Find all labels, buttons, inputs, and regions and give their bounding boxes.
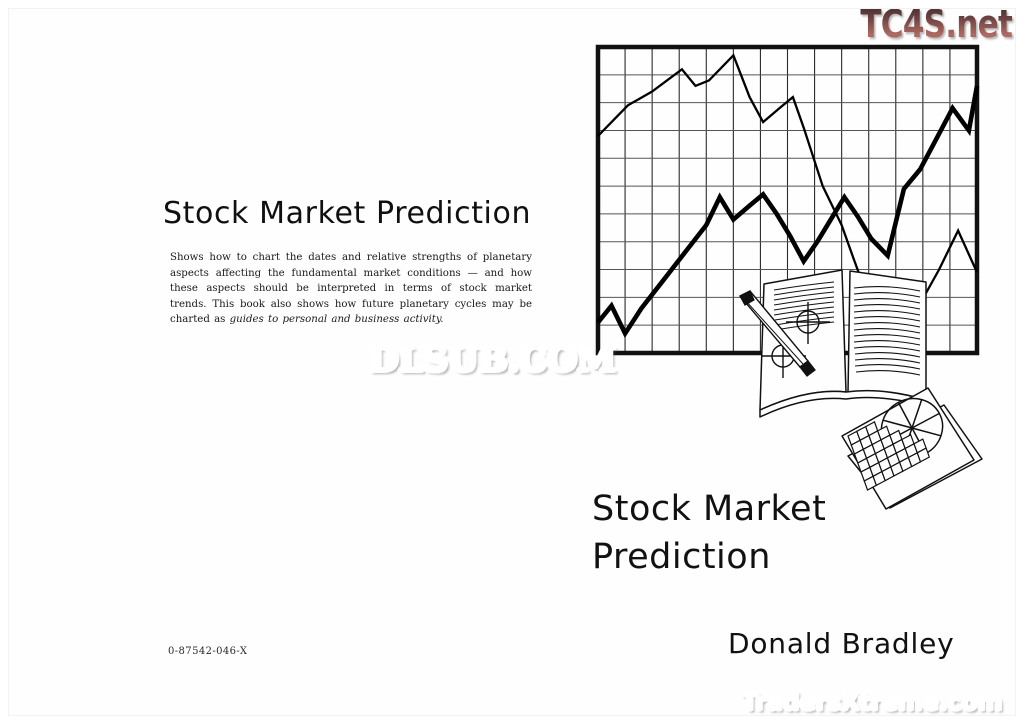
- watermark-tc4s: TC4S.net: [860, 2, 1012, 46]
- back-cover-blurb: Shows how to chart the dates and relativ…: [170, 250, 532, 328]
- front-cover-title-line-2: Prediction: [592, 533, 922, 581]
- author-name: Donald Bradley: [728, 627, 954, 660]
- book-cover: Stock Market Prediction Shows how to cha…: [0, 0, 1024, 724]
- blurb-italic-tail: guides to personal and business activity…: [230, 314, 444, 325]
- watermark-tradersxtreme: TradersXtreme.com: [742, 688, 1002, 716]
- watermark-dlsub-text: DLSUB.COM: [368, 340, 616, 380]
- watermark-tradersxtreme-text: TradersXtreme.com: [742, 688, 1002, 716]
- book-and-charts-illustration: [730, 260, 990, 510]
- watermark-dlsub: DLSUB.COM: [368, 340, 616, 380]
- back-cover-title: Stock Market Prediction: [163, 196, 531, 231]
- isbn-number: 0-87542-046-X: [168, 646, 247, 657]
